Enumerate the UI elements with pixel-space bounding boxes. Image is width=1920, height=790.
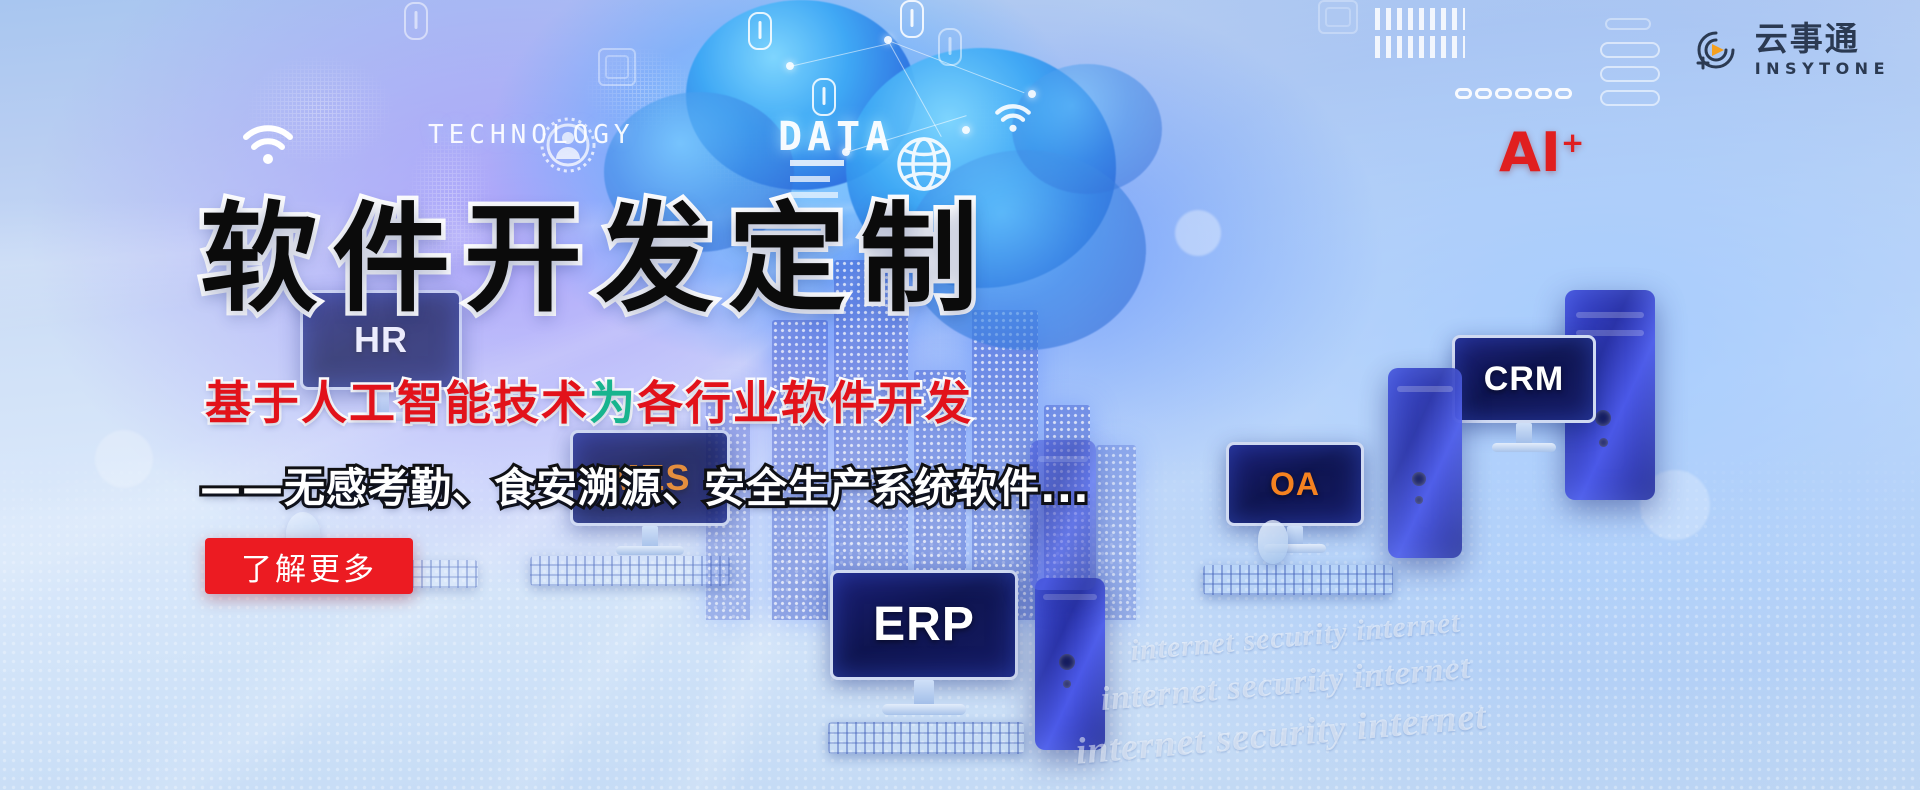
logo-mark-icon xyxy=(1689,23,1743,77)
ai-superscript: + xyxy=(1561,126,1584,159)
logo-wordmark: 云事通 INSYTONE xyxy=(1755,22,1890,78)
hero-copy: TECHNOLOGY DATA AI+ 软件开发定制 基于人工智能技术为各行业软… xyxy=(0,0,1920,790)
brand-logo[interactable]: 云事通 INSYTONE xyxy=(1689,22,1890,78)
data-decor-text: DATA xyxy=(778,114,894,160)
logo-cn-text: 云事通 xyxy=(1755,22,1890,57)
subtitle-part-1: 基于人工智能技术 xyxy=(205,376,589,430)
subtitle-part-2: 各行业软件开发 xyxy=(637,376,973,430)
page-title: 软件开发定制 xyxy=(200,200,992,318)
hero-subtitle: 基于人工智能技术为各行业软件开发 xyxy=(205,380,973,426)
hero-tagline: ——无感考勤、食安溯源、安全生产系统软件... xyxy=(200,468,1090,509)
banner-hero: CRM OA ERP xyxy=(0,0,1920,790)
logo-en-text: INSYTONE xyxy=(1755,59,1890,78)
ai-label: AI xyxy=(1499,121,1561,184)
ai-plus-badge: AI+ xyxy=(1499,126,1584,180)
learn-more-button[interactable]: 了解更多 xyxy=(205,538,413,594)
technology-decor-text: TECHNOLOGY xyxy=(428,120,635,150)
subtitle-accent: 为 xyxy=(589,376,637,430)
